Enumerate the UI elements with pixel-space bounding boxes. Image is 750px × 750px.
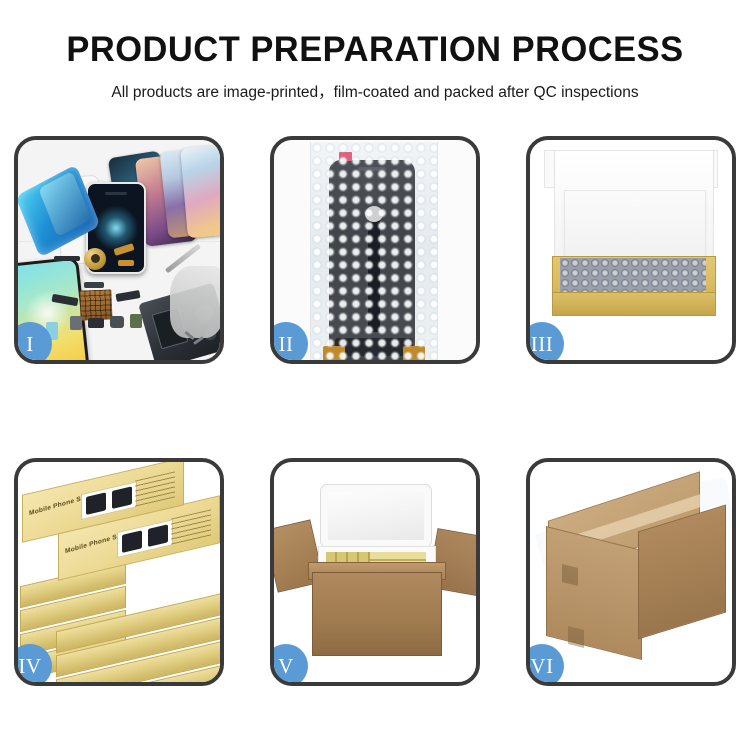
panel-5-image: [274, 462, 476, 682]
step-badge-3: III: [526, 322, 564, 364]
process-step-panel-3[interactable]: III: [526, 136, 736, 364]
carton-handle-cut-lower: [568, 626, 584, 648]
panel-4-image: Mobile Phone Spare Parts Mobile Phone Sp…: [18, 462, 220, 682]
carton-handle-cut-upper: [562, 564, 578, 586]
step-badge-6: VI: [526, 644, 564, 686]
process-step-panel-1[interactable]: I: [14, 136, 224, 364]
step-badge-5: V: [270, 644, 308, 686]
process-step-panel-2[interactable]: II: [270, 136, 480, 364]
step-badge-4: IV: [14, 644, 52, 686]
panel-2-image: [274, 140, 476, 360]
flex-cable-6: [84, 282, 104, 288]
screws-icon: [184, 330, 208, 348]
small-component-2: [88, 318, 104, 328]
flex-cable-1: [54, 256, 80, 261]
speaker-coil-icon: [84, 248, 106, 270]
process-step-panel-6[interactable]: VI: [526, 458, 736, 686]
styrofoam-lid: [320, 484, 432, 548]
box-front-lip: [552, 292, 716, 316]
hand-icon: [170, 266, 220, 338]
process-step-panel-5[interactable]: V: [270, 458, 480, 686]
retail-box-product-photo-upper: [81, 481, 137, 520]
retail-box-spec-list-upper: [135, 471, 175, 506]
bubble-texture: [311, 142, 437, 360]
step-badge-1: I: [14, 322, 52, 364]
small-component-4: [130, 314, 142, 328]
bubble-wrapped-contents: [560, 258, 706, 292]
small-component-3: [110, 316, 124, 328]
retail-box-product-photo-lower: [117, 519, 173, 558]
process-step-panel-4[interactable]: Mobile Phone Spare Parts Mobile Phone Sp…: [14, 458, 224, 686]
small-component-1: [70, 316, 82, 330]
page-subtitle: All products are image-printed，film-coat…: [0, 80, 750, 102]
panel-3-image: [530, 140, 732, 360]
phone-display-4: [180, 144, 220, 238]
page-title: PRODUCT PREPARATION PROCESS: [6, 32, 745, 69]
step-badge-2: II: [270, 322, 308, 364]
chip-array-icon: [79, 289, 112, 320]
process-step-grid: I II III: [14, 136, 736, 686]
retail-box-spec-list-lower: [171, 509, 211, 544]
panel-6-image: [530, 462, 732, 682]
flex-cable-3: [118, 260, 134, 266]
panel-1-image: [18, 140, 220, 360]
page-header: PRODUCT PREPARATION PROCESS All products…: [0, 0, 750, 102]
carton-body: [312, 572, 442, 656]
white-foam-sheet: [564, 190, 706, 266]
bubble-wrap-bag: [310, 142, 438, 360]
